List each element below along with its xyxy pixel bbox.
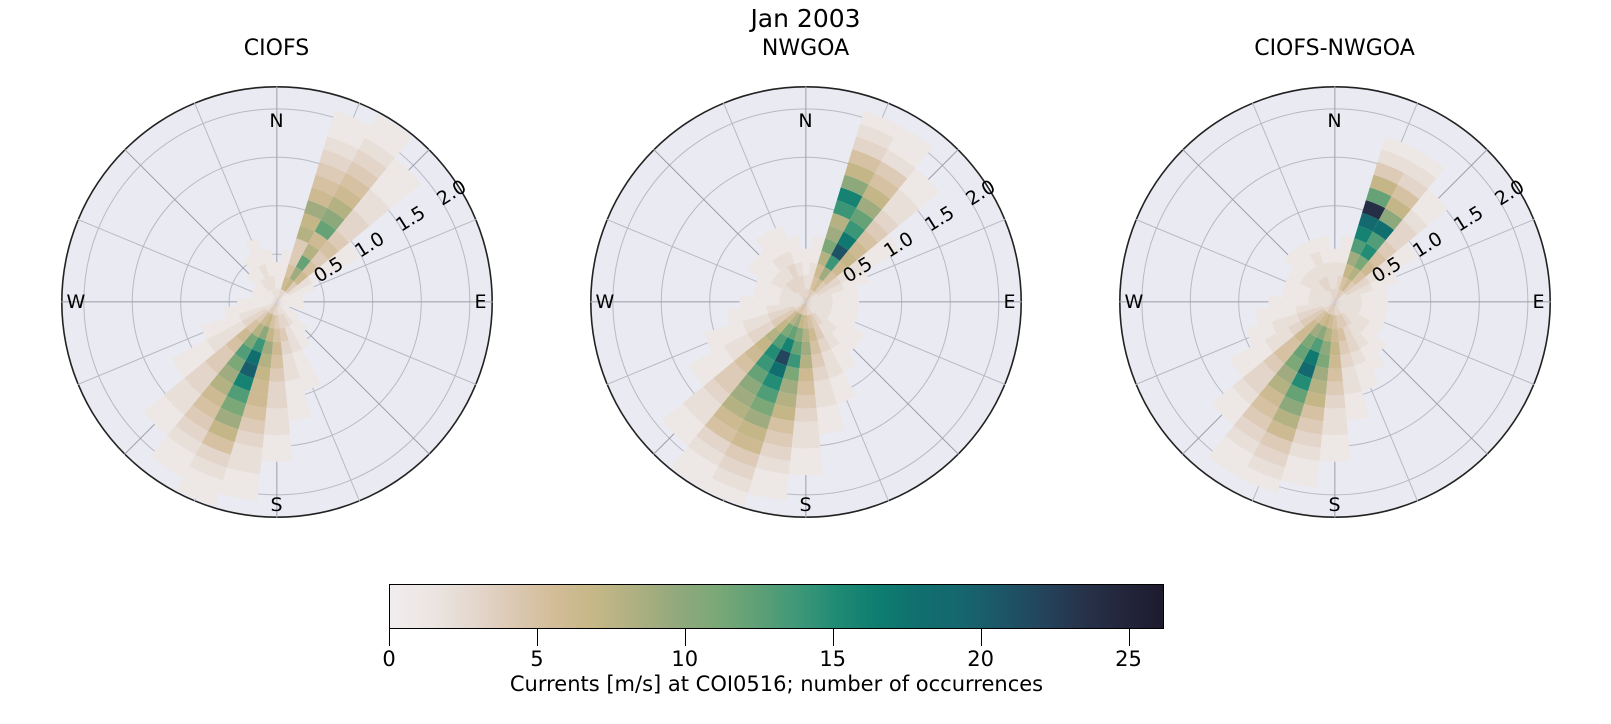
compass-label-w: W xyxy=(596,291,615,313)
rose-cell xyxy=(1361,298,1374,306)
rose-cell xyxy=(739,295,753,308)
compass-label-s: S xyxy=(1328,494,1340,516)
polar-axes-ciofs-nwgoa: 0.51.01.52.0 N S W E xyxy=(1119,86,1551,518)
polar-axes-ciofs: 0.51.01.52.0 N S W E xyxy=(61,86,493,518)
rose-cell xyxy=(1329,249,1339,263)
rose-petals-ciofs-nwgoa xyxy=(1119,86,1551,518)
compass-label-s: S xyxy=(270,494,282,516)
rose-cell xyxy=(1325,381,1343,395)
rose-cell xyxy=(1331,262,1339,275)
rose-cell xyxy=(802,262,810,275)
panel-title-nwgoa: NWGOA xyxy=(537,36,1074,62)
rose-cell xyxy=(752,297,766,307)
rose-cell xyxy=(271,342,281,356)
rose-cell xyxy=(1268,295,1282,308)
rose-cell xyxy=(1319,448,1350,462)
rose-cell xyxy=(265,408,288,422)
rose-cell xyxy=(263,421,289,435)
rose-cell xyxy=(791,434,820,448)
rose-cell xyxy=(270,355,283,369)
rose-cell xyxy=(1327,368,1343,382)
colorbar-tick xyxy=(389,629,390,646)
compass-label-w: W xyxy=(67,291,86,313)
compass-label-e: E xyxy=(1532,291,1544,313)
rose-cell xyxy=(1281,297,1295,307)
rose-cell xyxy=(273,262,281,275)
rose-cell xyxy=(266,395,287,409)
compass-label-e: E xyxy=(1003,291,1015,313)
rose-cell xyxy=(1320,434,1349,448)
colorbar-tick xyxy=(685,629,686,646)
colorbar-tick-label: 5 xyxy=(530,647,543,671)
rose-cell xyxy=(798,368,814,382)
figure-canvas: Jan 2003 CIOFS 0.51.01.52.0 N S W E NWGO… xyxy=(0,0,1611,724)
rose-cell xyxy=(802,328,810,341)
rose-cell xyxy=(1329,342,1339,356)
rose-cell xyxy=(794,408,817,422)
compass-label-n: N xyxy=(798,110,812,132)
polar-panel-nwgoa: NWGOA 0.51.01.52.0 N S W E xyxy=(537,36,1074,581)
rose-cell xyxy=(1328,355,1341,369)
rose-petals-ciofs xyxy=(61,86,493,518)
figure-suptitle: Jan 2003 xyxy=(0,4,1611,34)
rose-cell xyxy=(1374,297,1388,307)
rose-cell xyxy=(796,381,814,395)
polar-axes-nwgoa: 0.51.01.52.0 N S W E xyxy=(590,86,1022,518)
rose-cell xyxy=(237,298,250,306)
rose-cell xyxy=(1323,408,1346,422)
panel-title-ciofs-nwgoa: CIOFS-NWGOA xyxy=(1066,36,1603,62)
colorbar-tick xyxy=(981,629,982,646)
rose-cell xyxy=(1331,328,1339,341)
polar-panel-ciofs: CIOFS 0.51.01.52.0 N S W E xyxy=(8,36,545,581)
rose-cell xyxy=(273,328,281,341)
colorbar-tick xyxy=(1129,629,1130,646)
compass-label-n: N xyxy=(1327,110,1341,132)
colorbar-tick-label: 10 xyxy=(671,647,698,671)
rose-cell xyxy=(800,249,810,263)
compass-label-w: W xyxy=(1125,291,1144,313)
polar-disc xyxy=(1119,86,1551,518)
rose-cell xyxy=(792,421,818,435)
colorbar-tick xyxy=(833,629,834,646)
rose-cell xyxy=(799,355,812,369)
colorbar-gradient xyxy=(389,584,1164,629)
rose-cell xyxy=(269,368,285,382)
panel-title-ciofs: CIOFS xyxy=(8,36,545,62)
rose-cell xyxy=(267,381,285,395)
rose-cell xyxy=(845,297,859,307)
rose-cell xyxy=(795,395,816,409)
rose-cell xyxy=(1295,298,1308,306)
polar-disc xyxy=(61,86,493,518)
polar-disc xyxy=(590,86,1022,518)
rose-cell xyxy=(1324,395,1345,409)
rose-cell xyxy=(766,298,779,306)
colorbar-tick-label: 0 xyxy=(382,647,395,671)
colorbar-caption: Currents [m/s] at COI0516; number of occ… xyxy=(389,672,1164,697)
rose-petals-nwgoa xyxy=(590,86,1022,518)
colorbar-tick-label: 20 xyxy=(967,647,994,671)
colorbar-tick xyxy=(537,629,538,646)
rose-cell xyxy=(261,448,292,462)
rose-cell xyxy=(800,342,810,356)
polar-panel-ciofs-nwgoa: CIOFS-NWGOA 0.51.01.52.0 N S W E xyxy=(1066,36,1603,581)
colorbar: 0510152025 xyxy=(389,584,1164,630)
colorbar-tick-label: 15 xyxy=(819,647,846,671)
rose-cell xyxy=(789,461,823,475)
rose-cell xyxy=(1321,421,1347,435)
rose-cell xyxy=(790,448,821,462)
compass-label-s: S xyxy=(799,494,811,516)
rose-cell xyxy=(262,434,291,448)
compass-label-n: N xyxy=(269,110,283,132)
compass-label-e: E xyxy=(474,291,486,313)
colorbar-tick-label: 25 xyxy=(1115,647,1142,671)
rose-cell xyxy=(832,298,845,306)
